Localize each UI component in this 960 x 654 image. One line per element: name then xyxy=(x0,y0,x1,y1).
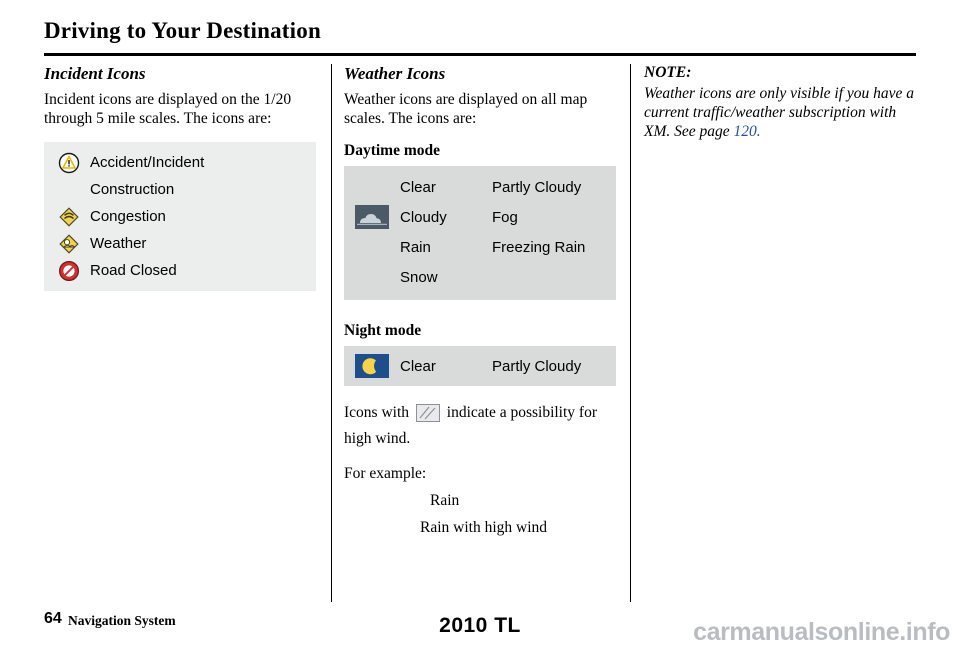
list-item-label: Rain with high wind xyxy=(420,519,547,537)
weather-label: Cloudy xyxy=(400,209,478,226)
list-item: Construction xyxy=(44,176,316,203)
weather-label: Partly Cloudy xyxy=(492,179,581,196)
weather-label: Partly Cloudy xyxy=(492,358,581,375)
table-row: Snow xyxy=(344,262,616,292)
congestion-icon xyxy=(54,206,84,228)
incident-icons-panel: Accident/Incident Construction Congestio… xyxy=(44,142,316,291)
weather-icons-intro: Weather icons are displayed on all map s… xyxy=(344,90,616,128)
weather-label: Rain xyxy=(400,239,478,256)
weather-label: Snow xyxy=(400,269,478,286)
list-item-label: Rain xyxy=(430,492,459,510)
high-wind-note-before: Icons with xyxy=(344,404,409,421)
road-closed-icon xyxy=(54,260,84,282)
weather-label: Freezing Rain xyxy=(492,239,585,256)
table-row: Rain Freezing Rain xyxy=(344,232,616,262)
list-item: Congestion xyxy=(44,203,316,230)
accident-incident-icon xyxy=(54,152,84,174)
column-note: NOTE: Weather icons are only visible if … xyxy=(644,64,916,141)
night-weather-panel: Clear Partly Cloudy xyxy=(344,346,616,386)
weather-icon xyxy=(54,233,84,255)
note-body: Weather icons are only visible if you ha… xyxy=(644,84,916,141)
note-heading: NOTE: xyxy=(644,64,916,82)
daytime-weather-panel: Clear Partly Cloudy Cloudy Fog Rai xyxy=(344,166,616,300)
list-item: Rain xyxy=(344,492,616,510)
incident-icons-heading: Incident Icons xyxy=(44,64,316,84)
weather-label: Clear xyxy=(400,358,478,375)
high-wind-note: Icons with indicate a possibility for hi… xyxy=(344,402,616,449)
weather-icons-heading: Weather Icons xyxy=(344,64,616,84)
list-item-label: Weather xyxy=(84,235,146,252)
watermark: carmanualsonline.info xyxy=(693,618,950,647)
daytime-mode-heading: Daytime mode xyxy=(344,142,616,160)
list-item: Weather xyxy=(44,230,316,257)
column-incident-icons: Incident Icons Incident icons are displa… xyxy=(44,64,316,291)
table-row: Clear Partly Cloudy xyxy=(344,172,616,202)
title-divider xyxy=(44,53,916,56)
note-body-text: Weather icons are only visible if you ha… xyxy=(644,85,914,140)
page-reference-link[interactable]: 120. xyxy=(734,123,761,140)
list-item-label: Accident/Incident xyxy=(84,154,204,171)
column-divider-1 xyxy=(331,64,332,602)
list-item: Road Closed xyxy=(44,257,316,284)
list-item: Rain with high wind xyxy=(344,519,616,537)
list-item-label: Road Closed xyxy=(84,262,177,279)
column-weather-icons: Weather Icons Weather icons are displaye… xyxy=(344,64,616,537)
page-title: Driving to Your Destination xyxy=(44,18,321,44)
high-wind-icon xyxy=(416,404,440,428)
document-page: Driving to Your Destination Incident Ico… xyxy=(0,0,960,654)
list-item-label: Construction xyxy=(84,181,174,198)
weather-label: Clear xyxy=(400,179,478,196)
incident-icons-intro: Incident icons are displayed on the 1/20… xyxy=(44,90,316,128)
column-divider-2 xyxy=(630,64,631,602)
construction-icon xyxy=(54,179,84,201)
table-row: Cloudy Fog xyxy=(344,202,616,232)
list-item-label: Congestion xyxy=(84,208,166,225)
for-example-label: For example: xyxy=(344,465,616,483)
table-row: Clear Partly Cloudy xyxy=(344,351,616,381)
cloudy-icon xyxy=(344,205,400,229)
weather-label: Fog xyxy=(492,209,518,226)
list-item: Accident/Incident xyxy=(44,149,316,176)
night-mode-heading: Night mode xyxy=(344,322,616,340)
clear-night-icon xyxy=(344,354,400,378)
